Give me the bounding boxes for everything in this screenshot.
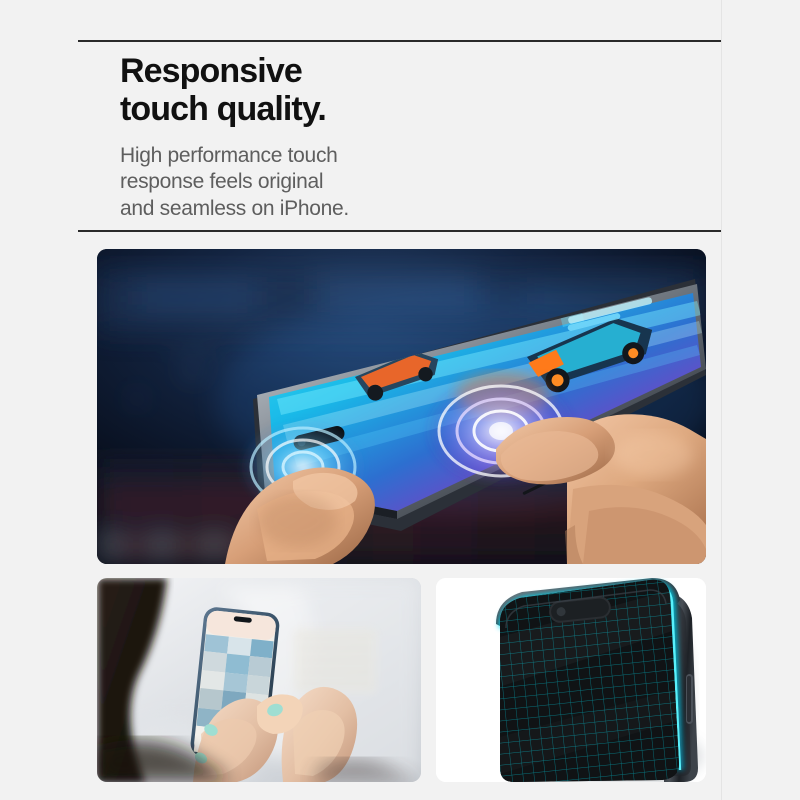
screen-protector-illustration	[436, 578, 706, 782]
page-title: Responsive touch quality.	[120, 52, 540, 129]
divider-middle	[78, 230, 721, 232]
page-subtitle: High performance touch response feels or…	[120, 143, 540, 223]
photo-gallery-tile	[97, 578, 421, 782]
hero-image	[97, 249, 706, 564]
divider-top	[78, 40, 721, 42]
hero-illustration	[97, 249, 706, 564]
copy-block: Responsive touch quality. High performan…	[120, 52, 540, 223]
screen-protector-tile	[436, 578, 706, 782]
page-right-guide	[721, 0, 722, 800]
product-feature-page: Responsive touch quality. High performan…	[0, 0, 800, 800]
photo-gallery-illustration	[97, 578, 421, 782]
